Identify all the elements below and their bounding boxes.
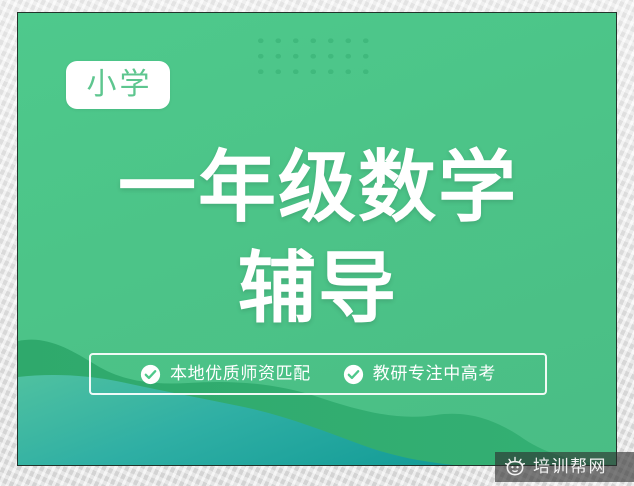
dot-grid-decoration — [250, 30, 372, 74]
feature-item-2: 教研专注中高考 — [343, 364, 496, 385]
grade-level-badge-label: 小学 — [84, 70, 153, 100]
feature-item-2-label: 教研专注中高考 — [373, 366, 496, 383]
watermark-label: 培训帮网 — [533, 459, 607, 476]
watermark: 培训帮网 — [495, 452, 634, 482]
poster-title-line-1: 一年级数学 — [18, 149, 617, 227]
sun-face-icon — [504, 456, 526, 478]
poster-title-line-2: 辅导 — [18, 250, 617, 328]
feature-item-1: 本地优质师资匹配 — [140, 364, 311, 385]
feature-bar: 本地优质师资匹配 教研专注中高考 — [89, 353, 547, 395]
feature-item-1-label: 本地优质师资匹配 — [170, 366, 311, 383]
poster-canvas: 小学 一年级数学 辅导 本地优质师资匹配 教研专注中高考 — [17, 12, 617, 466]
check-circle-icon — [140, 364, 161, 385]
check-circle-icon — [343, 364, 364, 385]
grade-level-badge: 小学 — [66, 61, 170, 109]
